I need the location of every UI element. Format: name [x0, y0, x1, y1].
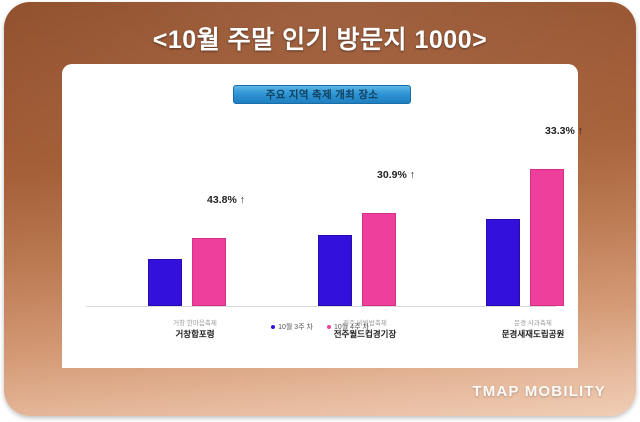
legend-label-week4: 10월 4주 차	[334, 322, 369, 332]
chart-legend: 10월 3주 차 10월 4주 차	[62, 322, 578, 332]
baseline-axis	[86, 306, 556, 307]
change-label-3: 33.3% ↑	[504, 125, 624, 137]
chart-card: 주요 지역 축제 개최 장소 43.8% ↑ 거창 한마음축제 거창합포령 30…	[62, 64, 578, 368]
bar-group-3-week4	[530, 169, 564, 306]
bar-group-3-week3	[486, 219, 520, 306]
legend-label-week3: 10월 3주 차	[278, 322, 313, 332]
bar-group-2-week4	[362, 213, 396, 306]
page-title: <10월 주말 인기 방문지 1000>	[0, 20, 640, 56]
infographic-root: <10월 주말 인기 방문지 1000> 주요 지역 축제 개최 장소 43.8…	[0, 0, 640, 422]
bar-group-2-week3	[318, 235, 352, 306]
legend-item-week3: 10월 3주 차	[271, 322, 313, 332]
bar-group-1-week4	[192, 238, 226, 306]
legend-item-week4: 10월 4주 차	[327, 322, 369, 332]
legend-dot-week3	[271, 325, 275, 329]
tmap-mobility-logo: TMAP MOBILITY	[472, 383, 606, 400]
legend-dot-week4	[327, 325, 331, 329]
bar-group-1-week3	[148, 259, 182, 306]
change-label-1: 43.8% ↑	[166, 194, 286, 206]
bar-chart-plot: 43.8% ↑ 거창 한마음축제 거창합포령 30.9% ↑ 전주 비빔밥축제 …	[62, 64, 578, 368]
change-label-2: 30.9% ↑	[336, 169, 456, 181]
